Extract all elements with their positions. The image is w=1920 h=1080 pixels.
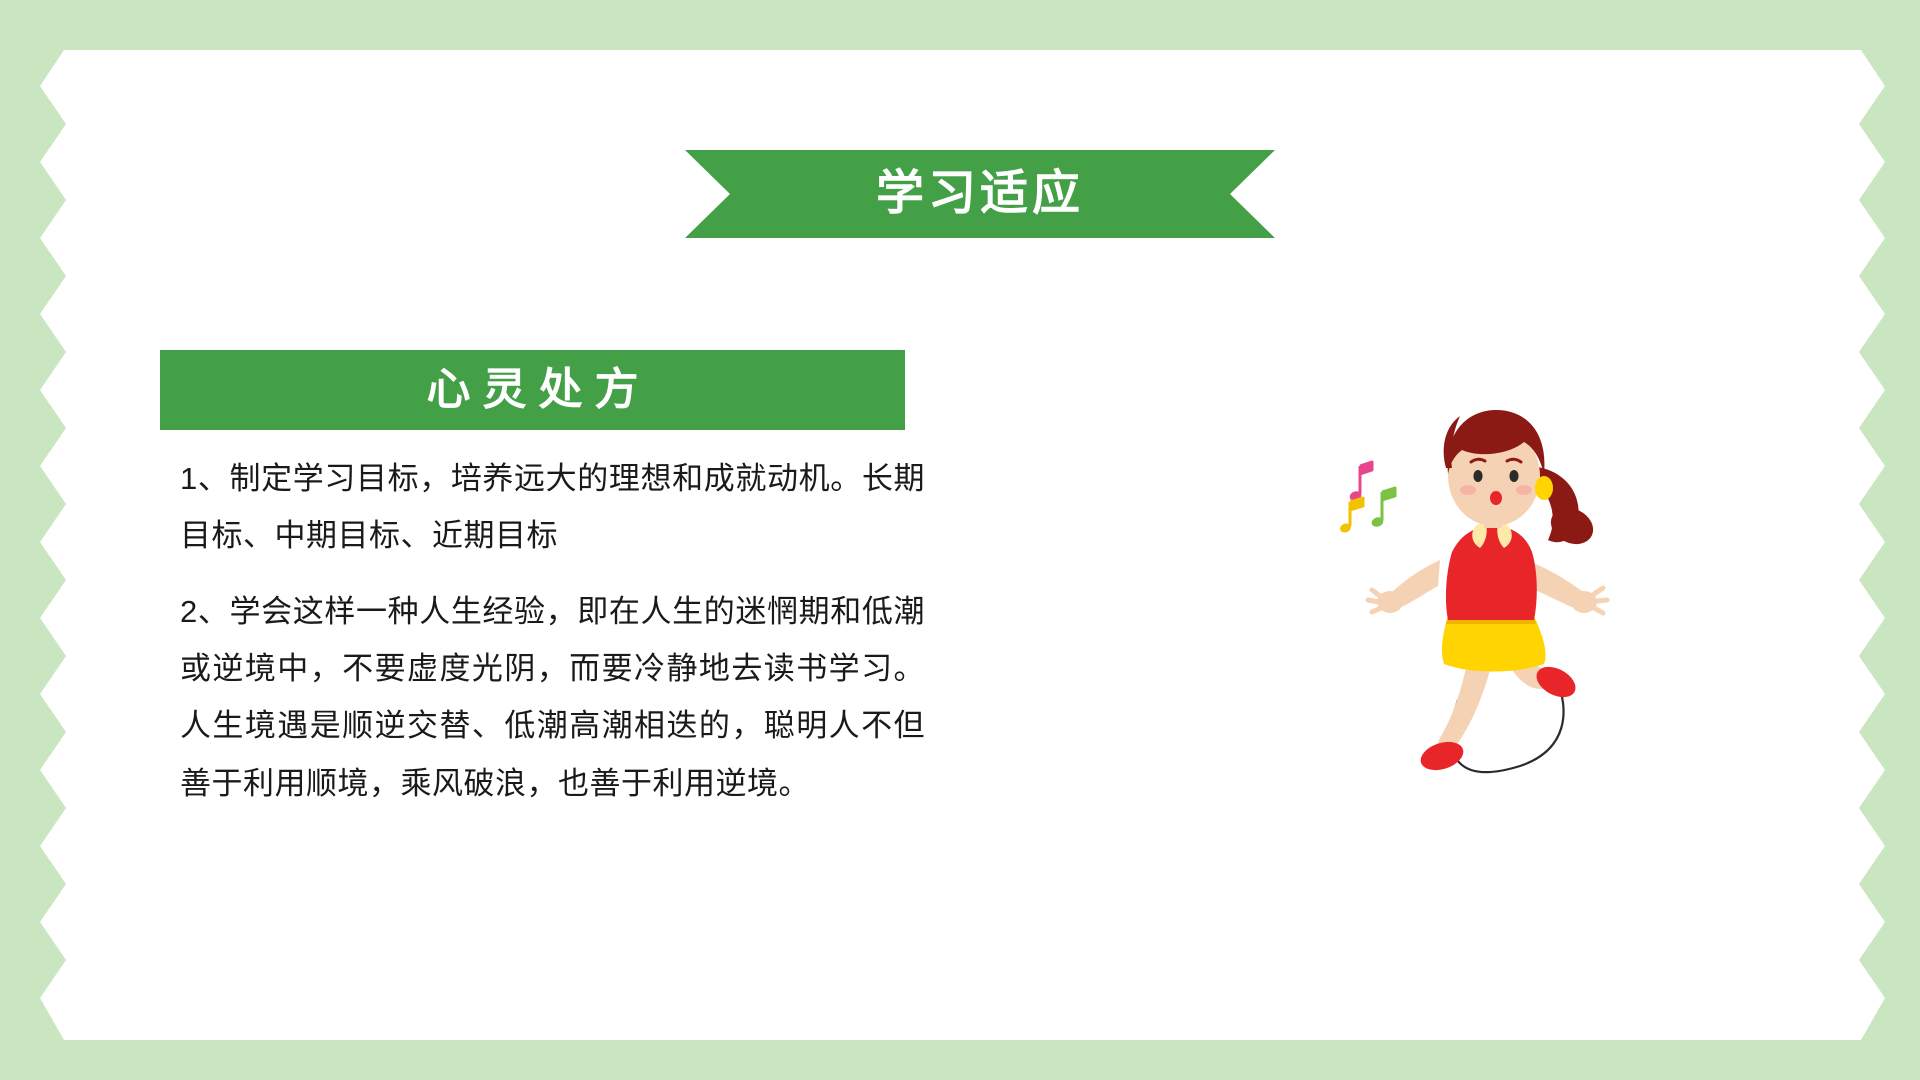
page-title: 学习适应 xyxy=(685,150,1275,238)
music-note-pink xyxy=(1348,462,1372,502)
girl-illustration xyxy=(1320,370,1650,840)
paragraph-2: 2、学会这样一种人生经验，即在人生的迷惘期和低潮或逆境中，不要虚度光阴，而要冷静… xyxy=(180,583,925,812)
girl-jumping-with-music-notes-icon xyxy=(1320,370,1650,840)
music-note-yellow xyxy=(1339,498,1363,534)
slide-root: 学习适应 心灵处方 1、制定学习目标，培养远大的理想和成就动机。长期目标、中期目… xyxy=(0,0,1920,1080)
title-ribbon: 学习适应 xyxy=(685,150,1275,238)
section-heading-bar: 心灵处方 xyxy=(160,350,905,430)
card-content: 学习适应 心灵处方 1、制定学习目标，培养远大的理想和成就动机。长期目标、中期目… xyxy=(40,50,1885,1040)
paragraph-1: 1、制定学习目标，培养远大的理想和成就动机。长期目标、中期目标、近期目标 xyxy=(180,450,925,565)
body-copy: 1、制定学习目标，培养远大的理想和成就动机。长期目标、中期目标、近期目标 2、学… xyxy=(180,450,925,830)
music-note-green xyxy=(1370,488,1395,528)
section-heading-label: 心灵处方 xyxy=(415,368,651,412)
white-card: 学习适应 心灵处方 1、制定学习目标，培养远大的理想和成就动机。长期目标、中期目… xyxy=(40,50,1885,1040)
